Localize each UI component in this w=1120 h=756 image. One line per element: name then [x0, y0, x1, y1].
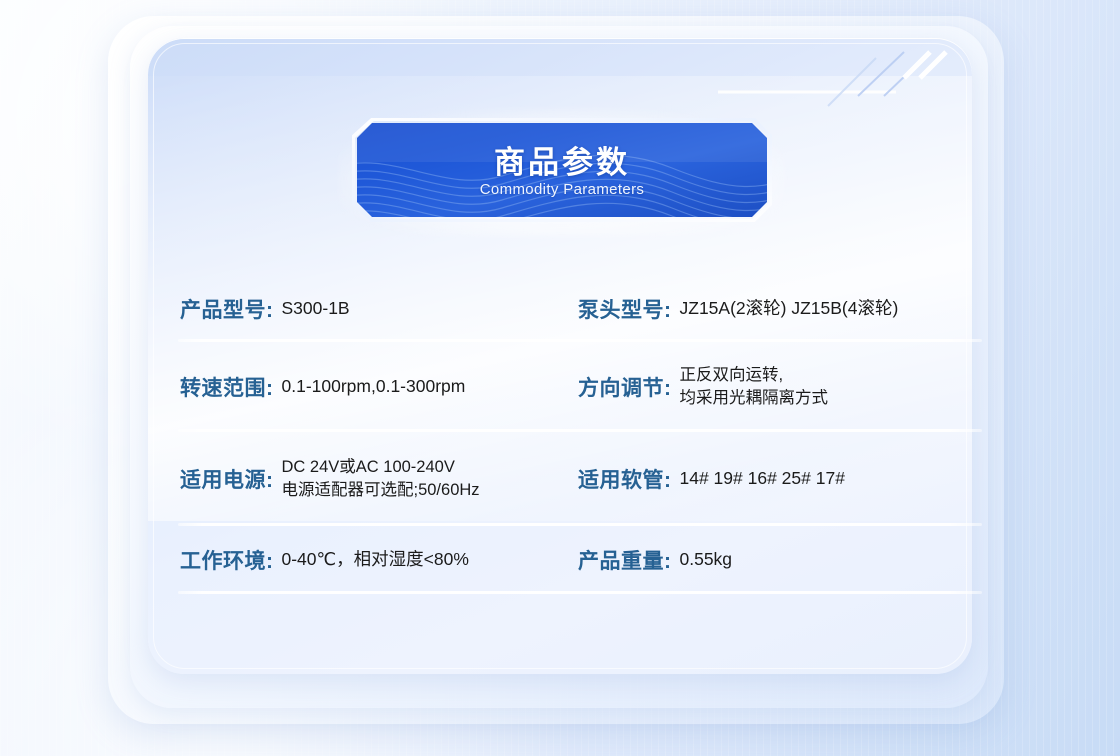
- param-cell-left: 产品型号: S300-1B: [178, 294, 578, 324]
- param-cell-right: 适用软管: 14# 19# 16# 25# 17#: [578, 464, 990, 494]
- param-value: JZ15A(2滚轮) JZ15B(4滚轮): [680, 297, 991, 321]
- param-label: 转速范围:: [180, 372, 274, 402]
- param-label: 产品重量:: [578, 545, 672, 575]
- param-label: 产品型号:: [180, 294, 274, 324]
- param-value: 14# 19# 16# 25# 17#: [680, 467, 991, 491]
- table-row: 工作环境: 0-40℃，相对湿度<80% 产品重量: 0.55kg: [178, 526, 990, 594]
- param-cell-right: 产品重量: 0.55kg: [578, 545, 990, 575]
- table-row: 适用电源: DC 24V或AC 100-240V 电源适配器可选配;50/60H…: [178, 432, 990, 526]
- param-cell-right: 方向调节: 正反双向运转, 均采用光耦隔离方式: [578, 364, 990, 411]
- param-label: 泵头型号:: [578, 294, 672, 324]
- param-value: DC 24V或AC 100-240V 电源适配器可选配;50/60Hz: [282, 456, 579, 503]
- param-value: 0.55kg: [680, 548, 991, 572]
- param-cell-right: 泵头型号: JZ15A(2滚轮) JZ15B(4滚轮): [578, 294, 990, 324]
- table-row: 转速范围: 0.1-100rpm,0.1-300rpm 方向调节: 正反双向运转…: [178, 342, 990, 432]
- param-label: 适用软管:: [578, 464, 672, 494]
- parameter-table: 产品型号: S300-1B 泵头型号: JZ15A(2滚轮) JZ15B(4滚轮…: [178, 276, 990, 594]
- param-value: S300-1B: [282, 297, 579, 321]
- param-cell-left: 适用电源: DC 24V或AC 100-240V 电源适配器可选配;50/60H…: [178, 456, 578, 503]
- row-separator: [178, 591, 982, 594]
- param-value: 0.1-100rpm,0.1-300rpm: [282, 375, 579, 399]
- param-value: 正反双向运转, 均采用光耦隔离方式: [680, 364, 991, 411]
- table-row: 产品型号: S300-1B 泵头型号: JZ15A(2滚轮) JZ15B(4滚轮…: [178, 276, 990, 342]
- decorative-slashes-icon: [708, 38, 972, 154]
- param-cell-left: 转速范围: 0.1-100rpm,0.1-300rpm: [178, 372, 578, 402]
- param-label: 工作环境:: [180, 545, 274, 575]
- param-value: 0-40℃，相对湿度<80%: [282, 548, 579, 572]
- page-root: 商品参数 Commodity Parameters 产品型号: S300-1B …: [0, 0, 1120, 756]
- param-cell-left: 工作环境: 0-40℃，相对湿度<80%: [178, 545, 578, 575]
- param-label: 方向调节:: [578, 372, 672, 402]
- param-label: 适用电源:: [180, 464, 274, 494]
